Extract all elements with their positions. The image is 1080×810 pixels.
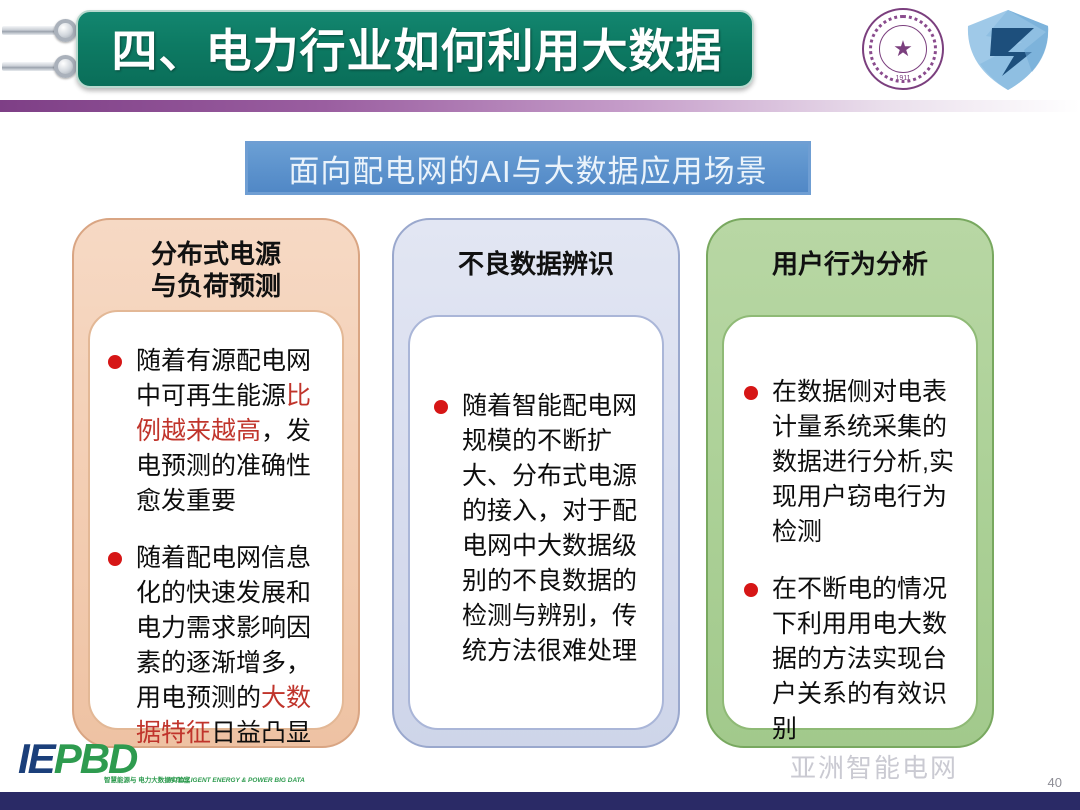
bullet-text: 随着智能配电网规模的不断扩大、分布式电源的接入，对于配电网中大数据级别的不良数据… xyxy=(462,392,637,665)
page-title: 四、电力行业如何利用大数据 xyxy=(78,12,756,90)
tsinghua-seal-icon: ★ 1911 xyxy=(862,8,944,90)
bullet-list: 在数据侧对电表计量系统采集的数据进行分析,实现用户窃电行为检测 在不断电的情况下… xyxy=(724,317,976,769)
logo-subtitle-en: INTELLIGENT ENERGY & POWER BIG DATA xyxy=(168,776,305,785)
logo-pbd-text: PBD xyxy=(54,735,137,782)
bullet-dot-icon xyxy=(108,355,122,369)
panel-title: 分布式电源 与负荷预测 xyxy=(74,238,358,302)
seal-year: 1911 xyxy=(864,75,942,82)
panels-container: 分布式电源 与负荷预测 随着有源配电网中可再生能源比例越来越高，发电预测的准确性… xyxy=(0,218,1080,748)
panel-distributed-generation-load-forecast: 分布式电源 与负荷预测 随着有源配电网中可再生能源比例越来越高，发电预测的准确性… xyxy=(72,218,360,748)
list-item: 随着有源配电网中可再生能源比例越来越高，发电预测的准确性愈发重要 xyxy=(90,344,342,519)
list-item: 在不断电的情况下利用用电大数据的方法实现台户关系的有效识别 xyxy=(724,572,976,747)
bullet-dot-icon xyxy=(744,583,758,597)
list-item: 随着智能配电网规模的不断扩大、分布式电源的接入，对于配电网中大数据级别的不良数据… xyxy=(410,389,662,669)
bullet-dot-icon xyxy=(744,386,758,400)
bullet-list: 随着有源配电网中可再生能源比例越来越高，发电预测的准确性愈发重要 随着配电网信息… xyxy=(90,312,342,773)
panel-user-behavior-analysis: 用户行为分析 在数据侧对电表计量系统采集的数据进行分析,实现用户窃电行为检测 在… xyxy=(706,218,994,748)
bullet-text: 随着配电网信息化的快速发展和电力需求影响因素的逐渐增多，用电预测的大数据特征日益… xyxy=(136,544,311,747)
iepbd-lab-logo: IEPBD 智慧能源与 电力大数据实验室 INTELLIGENT ENERGY … xyxy=(18,738,318,794)
panel-title-line2: 与负荷预测 xyxy=(74,270,358,302)
subtitle-text: 面向配电网的AI与大数据应用场景 xyxy=(288,146,767,191)
logo-mark: IEPBD xyxy=(18,738,136,780)
panel-card: 随着有源配电网中可再生能源比例越来越高，发电预测的准确性愈发重要 随着配电网信息… xyxy=(88,310,344,730)
panel-title-line1: 不良数据辨识 xyxy=(394,248,678,280)
panel-title: 不良数据辨识 xyxy=(394,248,678,280)
bottom-bar xyxy=(0,792,1080,810)
panel-title: 用户行为分析 xyxy=(708,248,992,280)
bullet-list: 随着智能配电网规模的不断扩大、分布式电源的接入，对于配电网中大数据级别的不良数据… xyxy=(410,317,662,691)
wechat-watermark: 亚洲智能电网 xyxy=(790,748,958,785)
bullet-dot-icon xyxy=(434,400,448,414)
bullet-text: 随着有源配电网中可再生能源比例越来越高，发电预测的准确性愈发重要 xyxy=(136,347,311,515)
header-band: 四、电力行业如何利用大数据 ★ 1911 xyxy=(0,0,1080,100)
bullet-dot-icon xyxy=(108,552,122,566)
bullet-text: 在不断电的情况下利用用电大数据的方法实现台户关系的有效识别 xyxy=(772,575,947,743)
panel-title-line1: 用户行为分析 xyxy=(708,248,992,280)
panel-bad-data-identification: 不良数据辨识 随着智能配电网规模的不断扩大、分布式电源的接入，对于配电网中大数据… xyxy=(392,218,680,748)
page-number: 40 xyxy=(1048,775,1062,790)
title-plate: 四、电力行业如何利用大数据 xyxy=(76,10,754,88)
subtitle-banner: 面向配电网的AI与大数据应用场景 xyxy=(245,141,811,195)
panel-card: 随着智能配电网规模的不断扩大、分布式电源的接入，对于配电网中大数据级别的不良数据… xyxy=(408,315,664,730)
blue-shield-logo-icon xyxy=(962,6,1054,94)
list-item: 随着配电网信息化的快速发展和电力需求影响因素的逐渐增多，用电预测的大数据特征日益… xyxy=(90,541,342,751)
panel-card: 在数据侧对电表计量系统采集的数据进行分析,实现用户窃电行为检测 在不断电的情况下… xyxy=(722,315,978,730)
purple-divider xyxy=(0,100,1080,112)
slide-root: 四、电力行业如何利用大数据 ★ 1911 面向配电网的AI与大数据应用场景 分布… xyxy=(0,0,1080,810)
panel-title-line1: 分布式电源 xyxy=(74,238,358,270)
list-item: 在数据侧对电表计量系统采集的数据进行分析,实现用户窃电行为检测 xyxy=(724,375,976,550)
bullet-text: 在数据侧对电表计量系统采集的数据进行分析,实现用户窃电行为检测 xyxy=(772,378,954,546)
logo-ie-text: IE xyxy=(18,735,54,782)
